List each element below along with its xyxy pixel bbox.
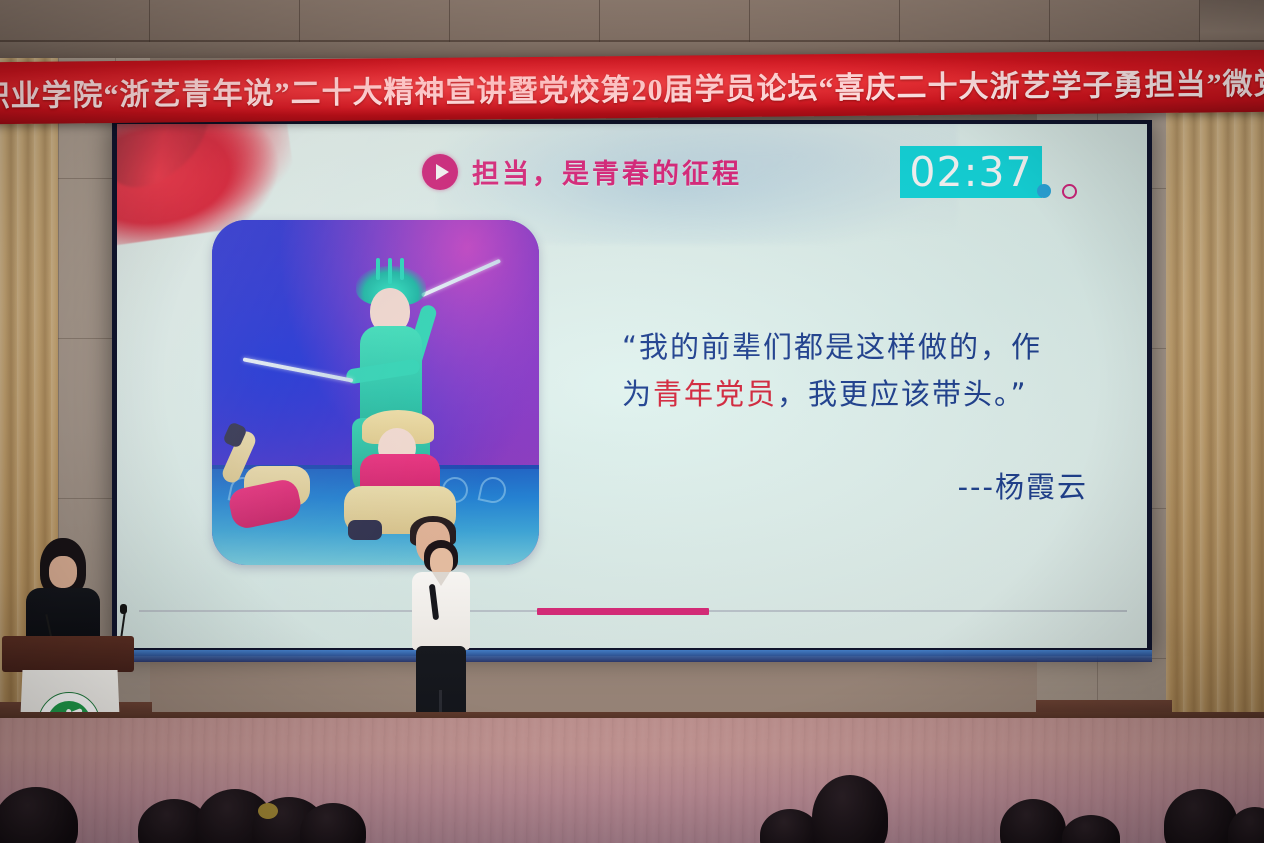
slide-progress-fill — [537, 608, 709, 615]
quote-attribution: ---杨霞云 — [622, 464, 1102, 506]
timer-value: 02:37 — [909, 152, 1032, 193]
opera-crouching-figure-right — [334, 412, 474, 540]
slide-title-block: 担当，是青春的征程 — [422, 152, 742, 191]
audience-hair-ornament — [258, 803, 278, 819]
timer-ring-icon — [1062, 184, 1077, 199]
timer-dot-icon — [1037, 184, 1051, 198]
presentation-slide: 担当，是青春的征程 02:37 — [117, 124, 1147, 648]
host-at-podium — [24, 538, 102, 642]
slide-header: 担当，是青春的征程 02:37 — [117, 142, 1147, 204]
slide-title: 担当，是青春的征程 — [472, 152, 742, 191]
chinese-opera-performance-photo — [212, 220, 539, 565]
quote-suffix: ，我更应该带头。” — [777, 377, 1028, 411]
quote-highlight: 青年党员 — [653, 377, 777, 411]
opera-tumbling-figure-left — [224, 424, 336, 534]
countdown-timer: 02:37 — [900, 146, 1042, 198]
ceiling — [0, 0, 1264, 58]
photograph-scene: 担当，是青春的征程 02:37 — [0, 0, 1264, 843]
event-banner-text: 艺术职业学院“浙艺青年说”二十大精神宣讲暨党校第20届学员论坛“喜庆二十大浙艺学… — [0, 58, 1264, 116]
quote-prefix: 为 — [622, 377, 653, 411]
play-circle-icon — [422, 154, 458, 190]
event-banner: 艺术职业学院“浙艺青年说”二十大精神宣讲暨党校第20届学员论坛“喜庆二十大浙艺学… — [0, 50, 1264, 124]
curtain-right — [1166, 58, 1264, 800]
quote-line-2: 为青年党员，我更应该带头。” — [622, 371, 1102, 418]
microphone-icon — [120, 604, 127, 614]
screen-bottom-edge — [112, 650, 1152, 662]
slide-quote: “我的前辈们都是这样做的，作 为青年党员，我更应该带头。” — [622, 324, 1102, 418]
quote-line-1: “我的前辈们都是这样做的，作 — [622, 324, 1102, 371]
